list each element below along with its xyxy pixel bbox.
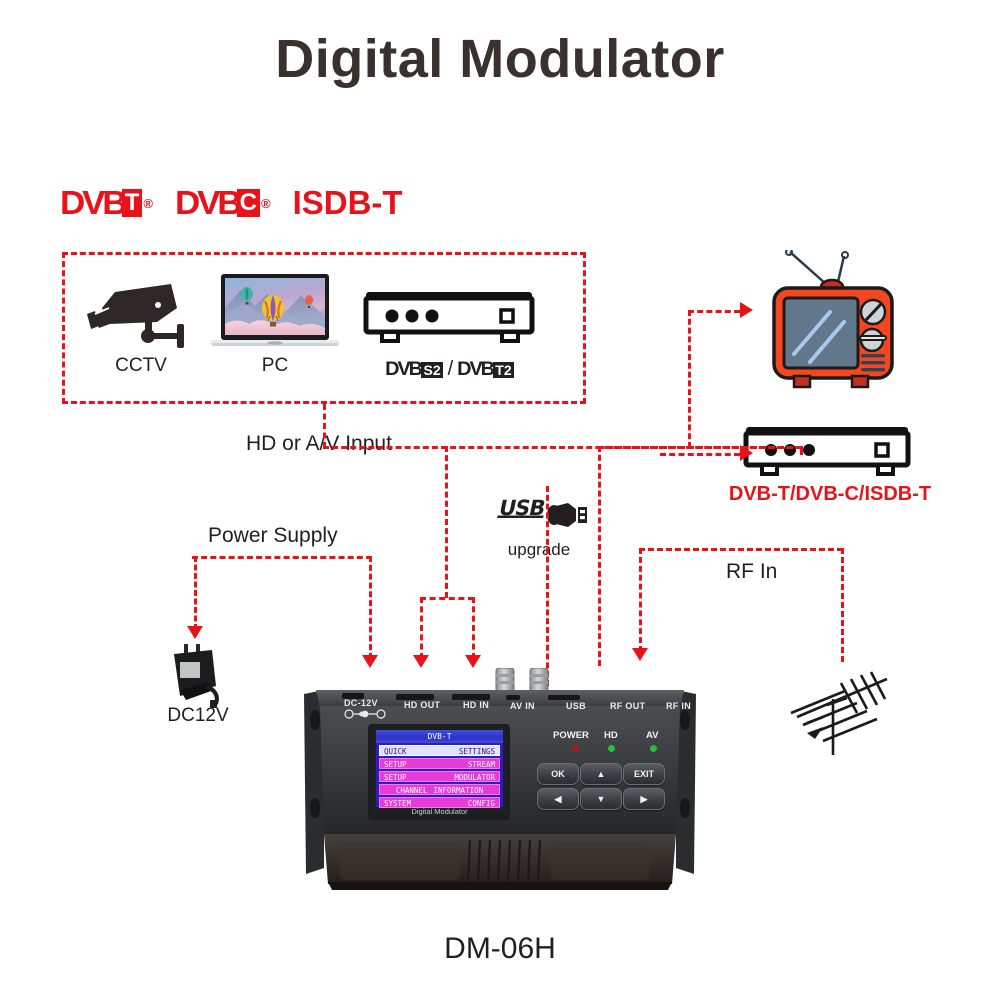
lcd-menu-item-quick-settings[interactable]: QUICK SETTINGS xyxy=(379,745,500,756)
separator-slash: / xyxy=(448,358,454,381)
wire-usb-drop xyxy=(546,486,549,686)
wire-rfin-top xyxy=(639,548,843,551)
port-hd-out-label: HD OUT xyxy=(404,700,440,710)
wire-receiver-line xyxy=(660,453,740,456)
port-hd-in-label: HD IN xyxy=(463,700,489,710)
usb-upgrade-group: USB upgrade xyxy=(484,495,594,560)
lcd-menu-left: CHANNEL xyxy=(396,785,428,794)
laptop-icon xyxy=(205,272,345,359)
wire-hdav-drop xyxy=(445,446,448,598)
lcd-menu-left: QUICK xyxy=(384,746,407,755)
arrow-to-hd-out xyxy=(413,655,429,668)
cctv-label: CCTV xyxy=(85,355,197,377)
wire-hdav-split xyxy=(420,597,474,600)
usb-upgrade-label: upgrade xyxy=(484,540,594,560)
lcd-menu-left: SYSTEM xyxy=(384,798,411,807)
adapter-label: DC12V xyxy=(140,705,256,727)
page-title: Digital Modulator xyxy=(0,28,1000,90)
dc-polarity-icon xyxy=(344,709,386,719)
up-button[interactable]: ▲ xyxy=(580,763,622,785)
lcd-menu-right: STREAM xyxy=(468,759,495,768)
pc-label: PC xyxy=(205,355,345,377)
standards-logo-row: DVB T ® DVB C ® ISDB-T xyxy=(60,182,403,222)
lcd-title: DVB-T xyxy=(376,730,503,743)
dvb-s2-logo: DVB S2 xyxy=(386,359,442,381)
wire-power-line xyxy=(192,556,372,559)
lcd-brand-text: Digital Modulator xyxy=(372,807,507,816)
lcd-menu-right: CONFIG xyxy=(468,798,495,807)
lcd-menu-left: SETUP xyxy=(384,759,407,768)
wire-tv-arrow-line xyxy=(688,310,740,313)
wire-power-to-adapter xyxy=(194,556,197,630)
arrow-to-dc-port xyxy=(362,655,378,668)
led-power-indicator xyxy=(572,745,579,752)
down-button[interactable]: ▼ xyxy=(580,788,622,810)
right-button[interactable]: ▶ xyxy=(623,788,665,810)
lcd-menu-item-setup-modulator[interactable]: SETUP MODULATOR xyxy=(379,771,500,782)
port-rf-in-label: RF IN xyxy=(666,701,691,711)
lcd-menu-right: SETTINGS xyxy=(459,746,495,755)
wire-source-down xyxy=(323,404,326,448)
receiver-standards-label: DVB-T/DVB-C/ISDB-T xyxy=(695,483,965,506)
retro-tv-icon xyxy=(768,250,898,385)
power-supply-label: Power Supply xyxy=(208,524,338,548)
led-av-label: AV xyxy=(646,730,659,741)
dvb-t2-logo: DVB T2 xyxy=(458,359,513,381)
wire-rfout-bridge xyxy=(598,446,802,449)
cctv-camera-icon xyxy=(85,278,195,355)
dvb-s2-word: DVB xyxy=(386,359,422,381)
hd-or-av-input-label: HD or A/V Input xyxy=(246,432,392,456)
led-hd-label: HD xyxy=(604,730,618,741)
isdb-t-logo: ISDB-T xyxy=(293,184,403,222)
yagi-antenna-icon xyxy=(783,655,903,765)
port-av-in-label: AV IN xyxy=(510,701,535,711)
dvb-s2-suffix: S2 xyxy=(421,362,442,378)
wire-power-to-dc-port xyxy=(369,556,372,659)
dvb-c-word: DVB xyxy=(175,184,239,222)
lcd-display-area: DVB-T QUICK SETTINGS SETUP STREAM SETUP … xyxy=(376,730,503,807)
lcd-screen[interactable]: DVB-T QUICK SETTINGS SETUP STREAM SETUP … xyxy=(372,727,507,815)
dvb-t2-suffix: T2 xyxy=(493,362,513,378)
arrow-to-tv xyxy=(740,302,753,318)
rf-in-label: RF In xyxy=(726,560,777,584)
wire-hdout-drop xyxy=(420,597,423,659)
led-hd-indicator xyxy=(608,745,615,752)
arrow-to-rf-in xyxy=(632,648,648,661)
dvb-c-logo: DVB C ® xyxy=(175,184,271,222)
exit-button[interactable]: EXIT xyxy=(623,763,665,785)
receiver-set-top-box-icon xyxy=(742,425,912,488)
port-usb-label: USB xyxy=(566,701,586,711)
led-av-indicator xyxy=(650,745,657,752)
dvb-c-suffix: C xyxy=(237,189,260,217)
dvb-t-word: DVB xyxy=(60,184,124,222)
lcd-menu-left: SETUP xyxy=(384,772,407,781)
power-adapter-icon xyxy=(162,638,232,710)
arrow-to-hd-in xyxy=(465,655,481,668)
lcd-menu-right: MODULATOR xyxy=(454,772,495,781)
dvb-t2-word: DVB xyxy=(457,359,493,381)
wire-rfout-riser xyxy=(598,446,601,666)
set-top-box-icon xyxy=(362,288,537,355)
wire-rfin-antenna-side xyxy=(841,548,844,662)
port-dc-12v-label: DC-12V xyxy=(344,698,378,708)
usb-icon: USB xyxy=(484,495,594,533)
led-power-label: POWER xyxy=(553,730,589,741)
wire-tv-riser xyxy=(688,310,691,448)
lcd-menu-right: INFORMATION xyxy=(433,785,483,794)
set-top-box-standards-label: DVB S2 / DVB T2 xyxy=(362,358,538,381)
registered-mark: ® xyxy=(261,196,271,211)
model-name: DM-06H xyxy=(0,932,1000,966)
dvb-t-logo: DVB T ® xyxy=(60,184,153,222)
left-button[interactable]: ◀ xyxy=(537,788,579,810)
ok-button[interactable]: OK xyxy=(537,763,579,785)
lcd-menu-item-channel-information[interactable]: CHANNEL INFORMATION xyxy=(379,784,500,795)
dvb-t-suffix: T xyxy=(122,189,143,217)
port-rf-out-label: RF OUT xyxy=(610,701,645,711)
registered-mark: ® xyxy=(143,196,153,211)
wire-rfin-device-side xyxy=(639,548,642,652)
wire-hdin-drop xyxy=(472,597,475,659)
lcd-menu-item-setup-stream[interactable]: SETUP STREAM xyxy=(379,758,500,769)
